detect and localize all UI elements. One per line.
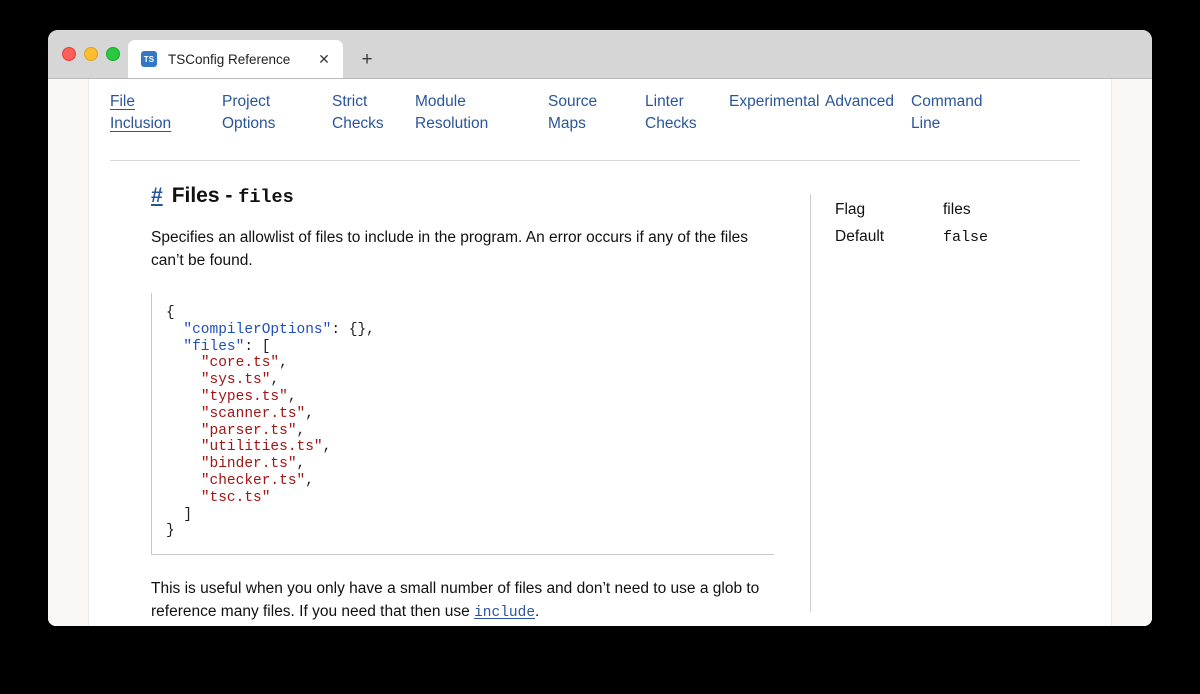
- code-token-punct: ,: [305, 406, 314, 422]
- code-token-punct: [166, 456, 201, 472]
- nav-link-line: Module: [415, 91, 548, 113]
- code-line: "types.ts",: [166, 389, 774, 406]
- browser-tab[interactable]: TS TSConfig Reference ✕: [128, 40, 343, 78]
- code-token-punct: [166, 490, 201, 506]
- code-token-punct: [166, 473, 201, 489]
- meta-value: false: [943, 229, 988, 246]
- code-token-punct: [166, 423, 201, 439]
- code-token-punct: ,: [270, 372, 279, 388]
- minimize-window-button[interactable]: [84, 47, 98, 61]
- article: # Files - files Specifies an allowlist o…: [151, 184, 781, 625]
- code-token-punct: ,: [297, 423, 306, 439]
- trailing-paragraph: This is useful when you only have a smal…: [151, 577, 781, 625]
- meta-panel: FlagfilesDefaultfalse: [835, 201, 1075, 255]
- nav-link-file-inclusion[interactable]: FileInclusion: [110, 91, 222, 135]
- code-token-punct: ,: [288, 389, 297, 405]
- page-viewport: FileInclusionProjectOptionsStrictChecksM…: [48, 79, 1152, 626]
- close-window-button[interactable]: [62, 47, 76, 61]
- heading-flag-name: files: [238, 187, 294, 208]
- code-token-punct: }: [166, 523, 175, 539]
- section-nav: FileInclusionProjectOptionsStrictChecksM…: [110, 91, 1080, 135]
- code-line: "scanner.ts",: [166, 406, 774, 423]
- meta-row: Flagfiles: [835, 201, 1075, 219]
- page-title: # Files - files: [151, 184, 781, 208]
- code-line: "sys.ts",: [166, 372, 774, 389]
- code-line: "files": [: [166, 339, 774, 356]
- code-token-str: "checker.ts": [201, 473, 305, 489]
- trailing-text-after: .: [535, 603, 539, 620]
- code-line: "binder.ts",: [166, 456, 774, 473]
- nav-link-line: Strict: [332, 91, 415, 113]
- left-rail: [48, 79, 89, 626]
- nav-link-line: Source: [548, 91, 645, 113]
- side-panel-divider: [810, 194, 811, 612]
- window-controls: [62, 47, 120, 61]
- nav-link-line: Checks: [645, 113, 729, 135]
- meta-label: Default: [835, 228, 943, 246]
- meta-row: Defaultfalse: [835, 228, 1075, 246]
- code-token-punct: : [: [244, 339, 270, 355]
- page-content: FileInclusionProjectOptionsStrictChecksM…: [89, 79, 1111, 626]
- code-token-key: "files": [183, 339, 244, 355]
- code-token-punct: ]: [166, 507, 192, 523]
- trailing-text-before: This is useful when you only have a smal…: [151, 580, 759, 620]
- code-line: "tsc.ts": [166, 490, 774, 507]
- code-token-punct: {: [166, 305, 175, 321]
- nav-link-line: Checks: [332, 113, 415, 135]
- nav-link-line: File: [110, 91, 222, 113]
- code-token-str: "tsc.ts": [201, 490, 271, 506]
- meta-label: Flag: [835, 201, 943, 219]
- code-token-punct: [166, 439, 201, 455]
- nav-link-line: Experimental: [729, 91, 825, 113]
- code-token-punct: [166, 355, 201, 371]
- nav-link-line: Inclusion: [110, 113, 222, 135]
- nav-link-line: Resolution: [415, 113, 548, 135]
- code-token-punct: [166, 322, 183, 338]
- description-paragraph: Specifies an allowlist of files to inclu…: [151, 226, 781, 272]
- right-rail: [1111, 79, 1152, 626]
- code-line: {: [166, 305, 774, 322]
- meta-value: files: [943, 201, 971, 219]
- nav-link-line: Linter: [645, 91, 729, 113]
- nav-link-linter-checks[interactable]: LinterChecks: [645, 91, 729, 135]
- code-token-punct: [166, 372, 201, 388]
- code-token-punct: ,: [305, 473, 314, 489]
- nav-link-line: Command: [911, 91, 1001, 113]
- code-line: "parser.ts",: [166, 423, 774, 440]
- nav-link-source-maps[interactable]: SourceMaps: [548, 91, 645, 135]
- heading-label: Files -: [172, 184, 239, 208]
- nav-link-line: Advanced: [825, 91, 911, 113]
- code-token-str: "scanner.ts": [201, 406, 305, 422]
- code-line: "compilerOptions": {},: [166, 322, 774, 339]
- code-token-punct: ,: [323, 439, 332, 455]
- code-token-str: "types.ts": [201, 389, 288, 405]
- code-line: "checker.ts",: [166, 473, 774, 490]
- code-line: }: [166, 523, 774, 540]
- code-token-key: "compilerOptions": [183, 322, 331, 338]
- typescript-favicon-icon: TS: [141, 51, 157, 67]
- tab-title: TSConfig Reference: [168, 52, 303, 67]
- code-token-str: "core.ts": [201, 355, 279, 371]
- code-token-punct: [166, 406, 201, 422]
- code-line: "core.ts",: [166, 355, 774, 372]
- nav-link-experimental[interactable]: Experimental: [729, 91, 825, 135]
- browser-window: TS TSConfig Reference ✕ + FileInclusionP…: [48, 30, 1152, 626]
- nav-divider: [110, 160, 1080, 161]
- nav-link-command-line[interactable]: CommandLine: [911, 91, 1001, 135]
- close-tab-icon[interactable]: ✕: [315, 50, 333, 68]
- maximize-window-button[interactable]: [106, 47, 120, 61]
- code-token-str: "sys.ts": [201, 372, 271, 388]
- code-token-punct: ,: [297, 456, 306, 472]
- anchor-link-icon[interactable]: #: [151, 184, 163, 208]
- code-token-punct: ,: [279, 355, 288, 371]
- nav-link-module-resolution[interactable]: ModuleResolution: [415, 91, 548, 135]
- nav-link-line: Line: [911, 113, 1001, 135]
- code-token-str: "utilities.ts": [201, 439, 323, 455]
- nav-link-line: Options: [222, 113, 332, 135]
- nav-link-line: Maps: [548, 113, 645, 135]
- code-token-punct: [166, 389, 201, 405]
- tab-strip: TS TSConfig Reference ✕ +: [128, 40, 380, 78]
- code-block: { "compilerOptions": {}, "files": [ "cor…: [151, 293, 774, 555]
- include-link[interactable]: include: [474, 605, 535, 621]
- code-line: ]: [166, 507, 774, 524]
- code-token-punct: : {},: [331, 322, 375, 338]
- nav-link-strict-checks[interactable]: StrictChecks: [332, 91, 415, 135]
- code-token-str: "parser.ts": [201, 423, 297, 439]
- code-line: "utilities.ts",: [166, 439, 774, 456]
- new-tab-icon[interactable]: +: [354, 46, 380, 72]
- nav-link-project-options[interactable]: ProjectOptions: [222, 91, 332, 135]
- nav-link-line: Project: [222, 91, 332, 113]
- browser-titlebar: TS TSConfig Reference ✕ +: [48, 30, 1152, 79]
- code-token-punct: [166, 339, 183, 355]
- code-token-str: "binder.ts": [201, 456, 297, 472]
- nav-link-advanced[interactable]: Advanced: [825, 91, 911, 135]
